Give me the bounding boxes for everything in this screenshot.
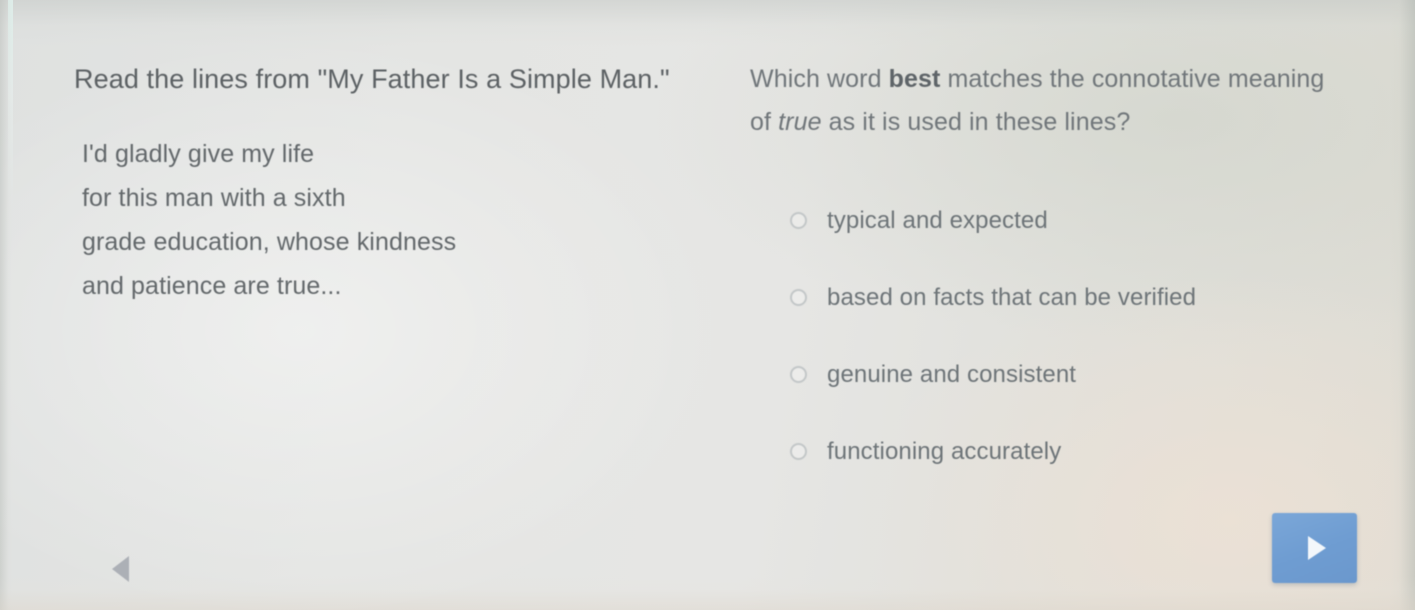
- screen-edge-shadow-bottom: [0, 576, 1415, 610]
- next-button[interactable]: [1272, 513, 1357, 583]
- triangle-right-icon: [1308, 536, 1326, 560]
- answer-choice-option[interactable]: based on facts that can be verified: [750, 259, 1340, 336]
- answer-choice-list: typical and expected based on facts that…: [750, 182, 1340, 490]
- poem-line: grade education, whose kindness: [74, 220, 694, 264]
- poem-line: I'd gladly give my life: [74, 132, 694, 176]
- radio-button-icon[interactable]: [790, 212, 807, 229]
- screen-edge-shadow-right: [1389, 0, 1415, 610]
- screen-edge-shadow-left: [0, 0, 12, 610]
- radio-button-icon[interactable]: [790, 443, 807, 460]
- answer-choice-label: functioning accurately: [827, 438, 1061, 466]
- quiz-screen: Read the lines from "My Father Is a Simp…: [0, 0, 1415, 610]
- answer-choice-label: based on facts that can be verified: [827, 284, 1196, 312]
- triangle-left-icon[interactable]: [112, 556, 129, 582]
- question-text-part1: Which word: [750, 65, 889, 93]
- question-prompt: Which word best matches the connotative …: [750, 58, 1340, 144]
- radio-button-icon[interactable]: [790, 289, 807, 306]
- screen-glare-top: [0, 0, 1415, 46]
- passage-instruction: Read the lines from "My Father Is a Simp…: [74, 58, 694, 100]
- question-text-part3: as it is used in these lines?: [822, 108, 1131, 136]
- answer-choice-label: genuine and consistent: [827, 361, 1076, 389]
- question-term-word: true: [778, 108, 821, 136]
- answer-choice-option[interactable]: functioning accurately: [750, 413, 1340, 490]
- poem-block: I'd gladly give my life for this man wit…: [74, 132, 694, 308]
- passage-pane: Read the lines from "My Father Is a Simp…: [74, 58, 694, 308]
- answer-choice-label: typical and expected: [827, 207, 1048, 235]
- question-pane: Which word best matches the connotative …: [750, 58, 1340, 490]
- answer-choice-option[interactable]: typical and expected: [750, 182, 1340, 259]
- radio-button-icon[interactable]: [790, 366, 807, 383]
- poem-line: and patience are true...: [74, 264, 694, 308]
- question-emphasis-word: best: [889, 65, 941, 93]
- poem-line: for this man with a sixth: [74, 176, 694, 220]
- screen-edge-streak: [8, 0, 13, 210]
- answer-choice-option[interactable]: genuine and consistent: [750, 336, 1340, 413]
